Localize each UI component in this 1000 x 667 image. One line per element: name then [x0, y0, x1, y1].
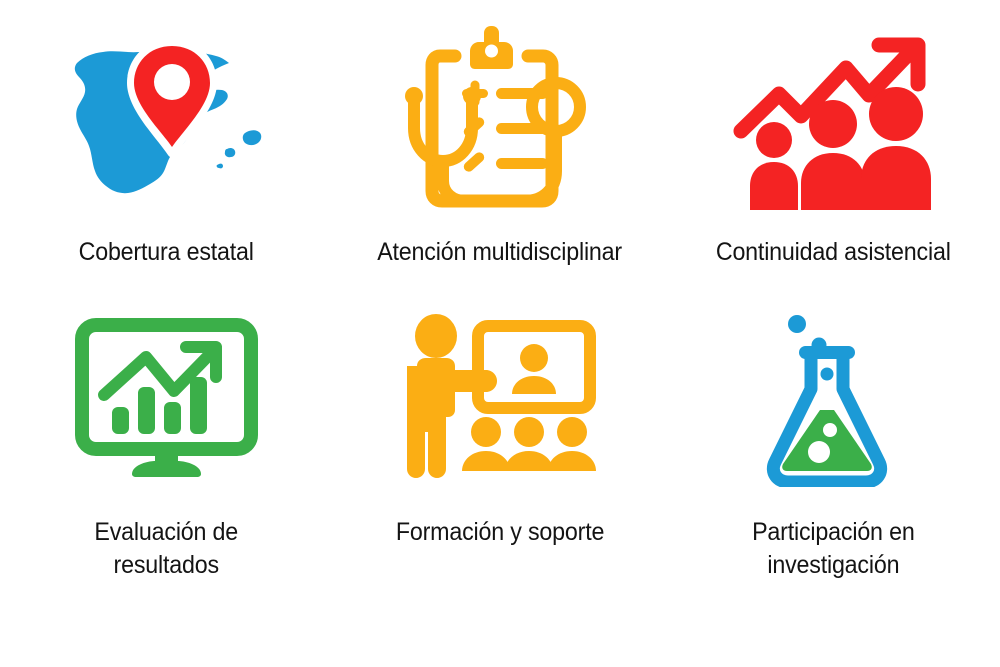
spain-map-location-pin-icon — [0, 18, 333, 218]
presenter-whiteboard-audience-icon — [333, 304, 666, 494]
monitor-bar-chart-arrow-icon — [0, 304, 333, 494]
feature-label: Formación y soporte — [396, 516, 604, 549]
lab-flask-bubbles-icon — [667, 304, 1000, 494]
feature-cell-formacion-y-soporte: Formación y soporte — [333, 304, 666, 648]
feature-cell-atencion-multidisciplinar: Atención multidisciplinar — [333, 18, 666, 304]
feature-cell-participacion-en-investigacion: Participación en investigación — [667, 304, 1000, 648]
feature-cell-cobertura-estatal: Cobertura estatal — [0, 18, 333, 304]
feature-cell-continuidad-asistencial: Continuidad asistencial — [667, 18, 1000, 304]
feature-label: Cobertura estatal — [79, 236, 254, 269]
feature-label: Evaluación de resultados — [95, 516, 239, 582]
feature-grid: Cobertura estatal — [0, 18, 1000, 648]
feature-label: Continuidad asistencial — [716, 236, 951, 269]
feature-label: Participación en investigación — [752, 516, 914, 582]
feature-cell-evaluacion-de-resultados: Evaluación de resultados — [0, 304, 333, 648]
infographic-board: Cobertura estatal — [0, 0, 1000, 667]
feature-label: Atención multidisciplinar — [378, 236, 623, 269]
growth-arrow-people-icon — [667, 18, 1000, 218]
clipboard-stethoscope-icon — [333, 18, 666, 218]
